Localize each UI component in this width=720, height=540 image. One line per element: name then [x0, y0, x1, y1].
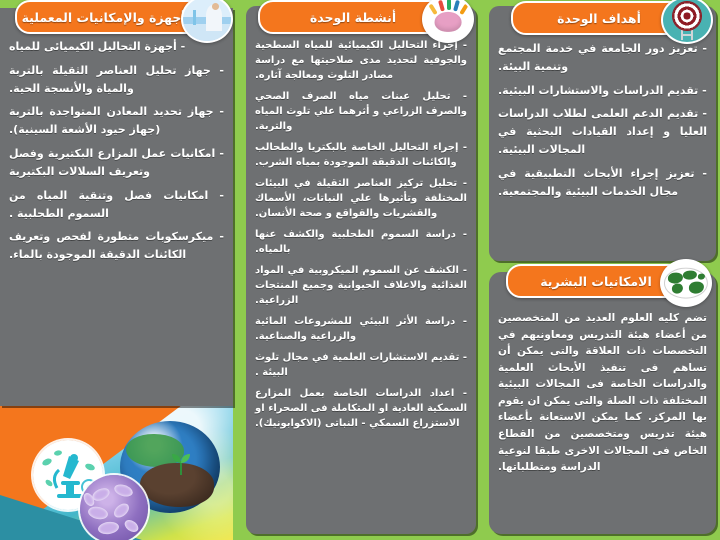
list-item: - امكانيات فصل وتنقية المياه من السموم ا…: [9, 187, 224, 223]
list-item: - دراسة الأثر البيئي للمشروعات المائية و…: [255, 314, 467, 344]
poster-canvas: الأجهزة والإمكانيات المعملية - أجهزة الت…: [0, 0, 720, 540]
brain-idea-icon: [422, 0, 474, 43]
decorative-collage: [0, 405, 233, 540]
paragraph: تضم كليه العلوم العديد من المتخصصين من أ…: [498, 310, 707, 476]
panel-activities-body: - إجراء التحاليل الكيميائية للمياه السطح…: [246, 6, 476, 439]
list-item: - امكانيات عمل المزارع البكتيرية وفصل وت…: [9, 145, 224, 181]
list-item: - تقديم الدعم العلمى لطلاب الدراسات العل…: [498, 105, 707, 158]
list-item: - إجراء التحاليل الخاصة بالبكتريا والطحا…: [255, 140, 467, 170]
globe-earth-icon: [660, 259, 712, 307]
list-item: - تحليل عينات مياه الصرف الصحي والصرف ال…: [255, 89, 467, 134]
list-item: - ميكرسكوبات متطورة لفحص وتعريف الكائنات…: [9, 228, 224, 264]
panel-equipment-body: - أجهزة التحاليل الكيميائى للمياه - جهاز…: [0, 8, 233, 272]
list-item: - تحليل تركيز العناصر الثقيلة في البيئات…: [255, 176, 467, 221]
list-item: - تقديم الدراسات والاستشارات البيئية.: [498, 82, 707, 100]
laboratory-photo-icon: [181, 0, 233, 43]
panel-activities-header: أنشطة الوحدة: [258, 0, 472, 34]
panel-goals-header: أهداف الوحدة: [511, 1, 711, 35]
list-item: - الكشف عن السموم الميكروبية في المواد ا…: [255, 263, 467, 308]
target-bullseye-icon: [661, 0, 713, 44]
panel-human-header: الامكانيات البشرية: [506, 264, 710, 298]
list-item: - جهاز تحليل العناصر الثقيلة بالتربة وال…: [9, 62, 224, 98]
panel-equipment-header: الأجهزة والإمكانيات المعملية: [15, 0, 231, 34]
list-item: - إجراء التحاليل الكيميائية للمياه السطح…: [255, 38, 467, 83]
panel-equipment: الأجهزة والإمكانيات المعملية - أجهزة الت…: [0, 8, 233, 406]
sprout-leaf-icon: [168, 449, 194, 475]
list-item: - دراسة السموم الطحلبية والكشف عنها بالم…: [255, 227, 467, 257]
list-item: - تعزيز دور الجامعة في خدمة المجتمع وتنم…: [498, 40, 707, 76]
panel-human-resources: الامكانيات البشرية تضم كليه العلوم العدي…: [489, 272, 716, 534]
bacteria-icon: [80, 475, 148, 540]
panel-activities: أنشطة الوحدة - إجراء التحاليل الكيميائية…: [246, 6, 476, 534]
list-item: - جهاز تحديد المعادن المتواجدة بالتربة (…: [9, 103, 224, 139]
list-item: - تقديم الاستشارات العلمية في مجال تلوث …: [255, 350, 467, 380]
panel-goals: أهداف الوحدة - تعزيز دور الجامعة في خدمة…: [489, 6, 716, 261]
list-item: - تعزيز إجراء الأبحاث التطبيقية في مجال …: [498, 165, 707, 201]
list-item: - اعداد الدراسات الخاصة بعمل المزارع الس…: [255, 386, 467, 431]
